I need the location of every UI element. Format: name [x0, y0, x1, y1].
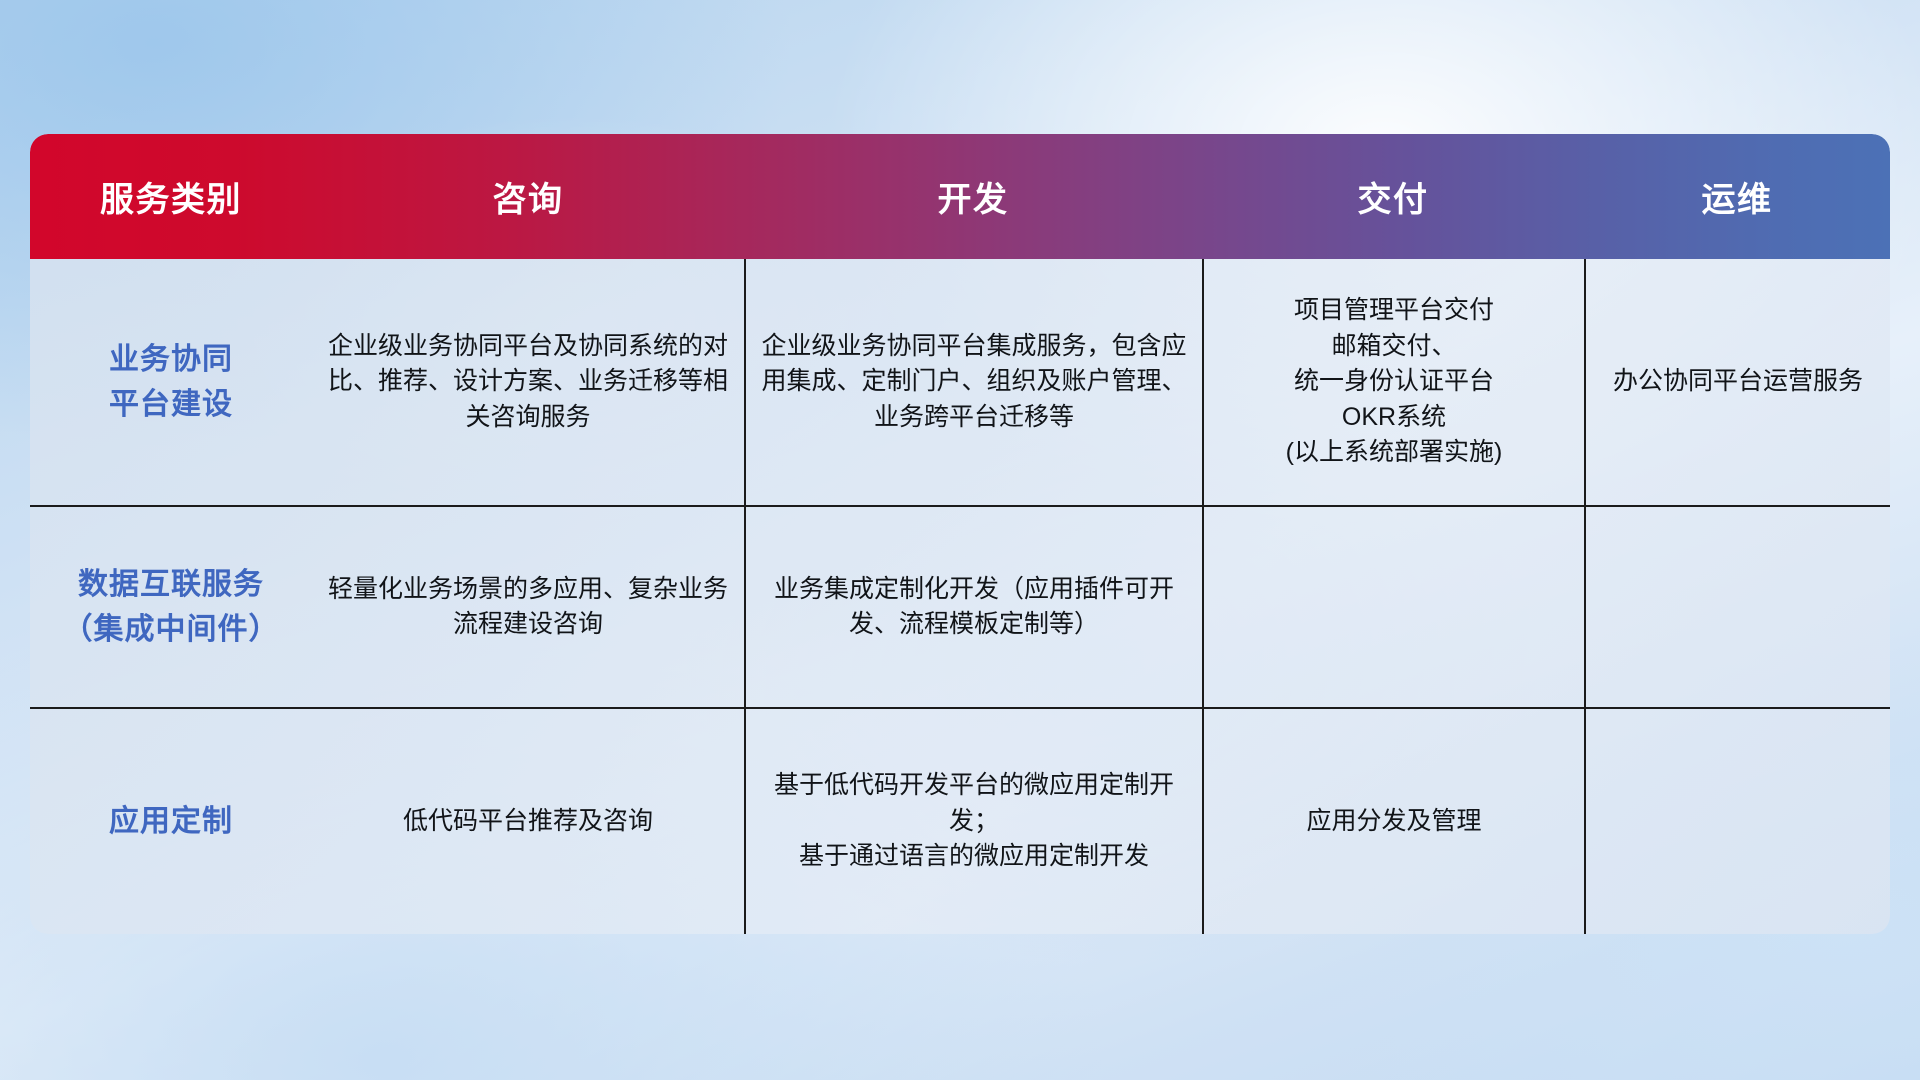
- cell-consulting: 低代码平台推荐及咨询: [312, 709, 744, 934]
- table-header-row: 服务类别 咨询 开发 交付 运维: [30, 134, 1890, 259]
- cell-operations: 办公协同平台运营服务: [1584, 259, 1890, 505]
- table-row: 数据互联服务 （集成中间件） 轻量化业务场景的多应用、复杂业务流程建设咨询 业务…: [30, 507, 1890, 709]
- cell-delivery: [1202, 507, 1584, 707]
- row-category-label: 业务协同 平台建设: [30, 259, 312, 505]
- cell-delivery: 项目管理平台交付 邮箱交付、 统一身份认证平台 OKR系统 (以上系统部署实施): [1202, 259, 1584, 505]
- cell-consulting: 轻量化业务场景的多应用、复杂业务流程建设咨询: [312, 507, 744, 707]
- cell-operations: [1584, 709, 1890, 934]
- table-body: 业务协同 平台建设 企业级业务协同平台及协同系统的对比、推荐、设计方案、业务迁移…: [30, 259, 1890, 934]
- column-header-delivery: 交付: [1202, 134, 1584, 259]
- column-header-development: 开发: [744, 134, 1202, 259]
- table-row: 业务协同 平台建设 企业级业务协同平台及协同系统的对比、推荐、设计方案、业务迁移…: [30, 259, 1890, 507]
- column-header-operations: 运维: [1584, 134, 1890, 259]
- cell-operations: [1584, 507, 1890, 707]
- row-category-label: 数据互联服务 （集成中间件）: [30, 507, 312, 707]
- column-header-consulting: 咨询: [312, 134, 744, 259]
- row-category-label: 应用定制: [30, 709, 312, 934]
- cell-consulting: 企业级业务协同平台及协同系统的对比、推荐、设计方案、业务迁移等相关咨询服务: [312, 259, 744, 505]
- cell-development: 企业级业务协同平台集成服务，包含应用集成、定制门户、组织及账户管理、业务跨平台迁…: [744, 259, 1202, 505]
- column-header-category: 服务类别: [30, 134, 312, 259]
- cell-delivery: 应用分发及管理: [1202, 709, 1584, 934]
- service-matrix-table: 服务类别 咨询 开发 交付 运维 业务协同 平台建设 企业级业务协同平台及协同系…: [30, 134, 1890, 934]
- cell-development: 业务集成定制化开发（应用插件可开发、流程模板定制等）: [744, 507, 1202, 707]
- cell-development: 基于低代码开发平台的微应用定制开发； 基于通过语言的微应用定制开发: [744, 709, 1202, 934]
- table-row: 应用定制 低代码平台推荐及咨询 基于低代码开发平台的微应用定制开发； 基于通过语…: [30, 709, 1890, 934]
